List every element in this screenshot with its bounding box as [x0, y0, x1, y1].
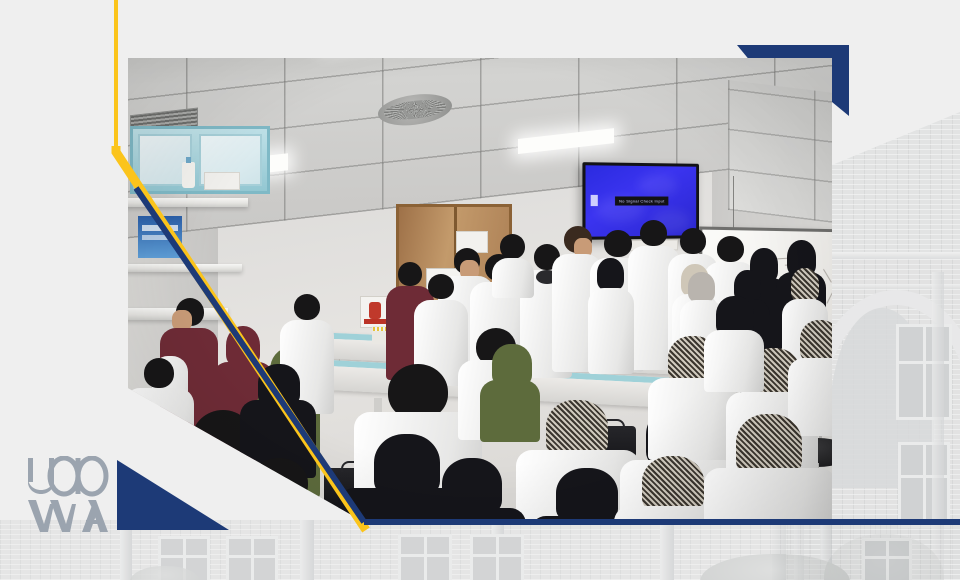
- poster-canvas: No Signal Check Input: [0, 0, 960, 580]
- navy-horizontal-bar: [364, 519, 960, 525]
- navy-triangle-accent: [117, 460, 229, 530]
- uowa-logo: [26, 456, 110, 534]
- yellow-vertical-rule: [114, 0, 118, 148]
- event-photograph: No Signal Check Input: [128, 58, 832, 522]
